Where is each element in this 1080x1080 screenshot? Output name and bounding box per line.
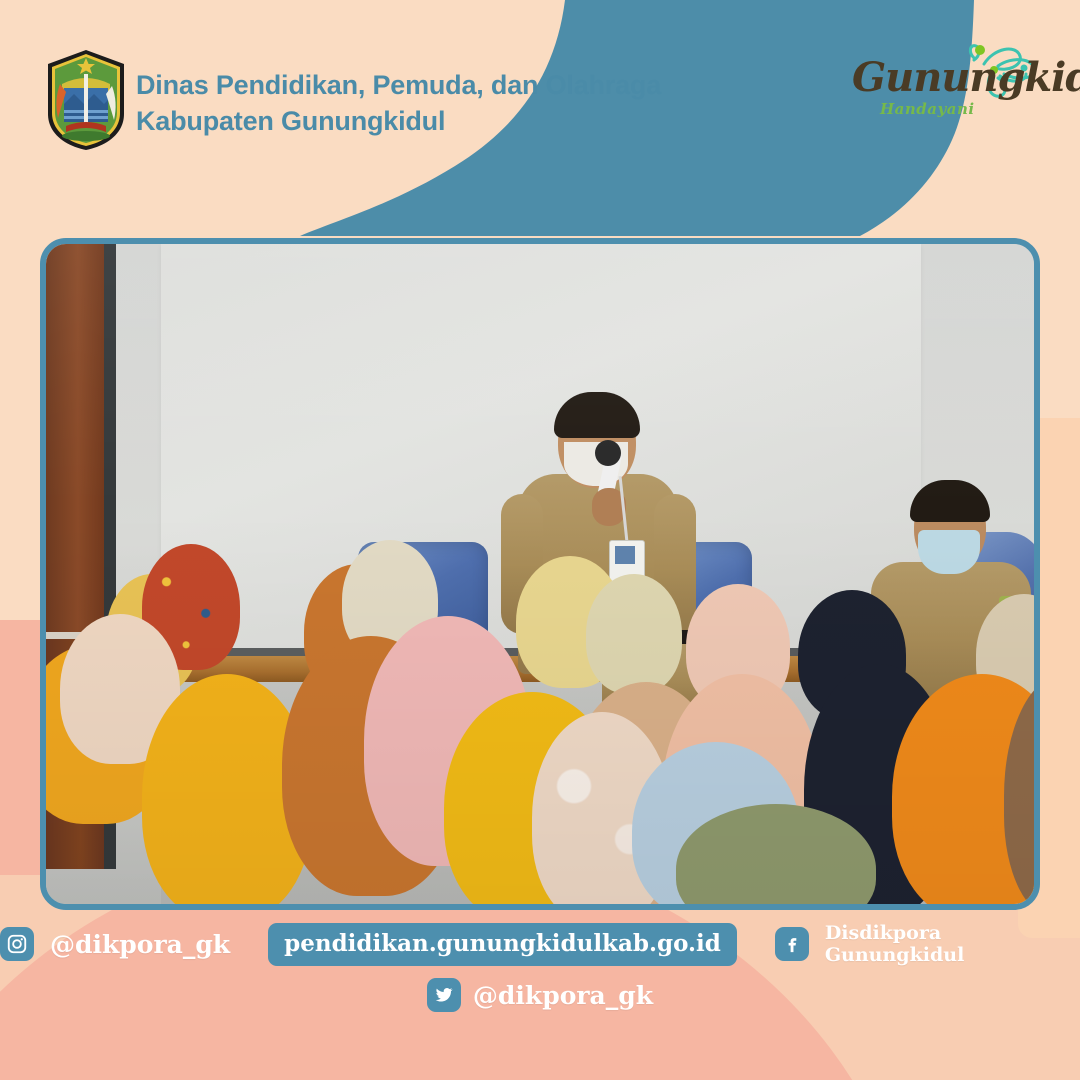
brand-wordmark: Gunungkidul [852,54,1080,101]
poster-canvas: Dinas Pendidikan, Pemuda, dan Olahraga K… [0,0,1080,1080]
twitter-handle[interactable]: @dikpora_gk [473,981,653,1010]
twitter-icon[interactable] [427,978,461,1012]
event-photo [46,244,1034,904]
door-frame-upper [46,244,104,644]
audience-head [586,574,682,694]
social-footer: @dikpora_gk pendidikan.gunungkidulkab.go… [0,910,1080,1080]
instagram-handle[interactable]: @dikpora_gk [50,930,230,959]
social-row-primary: @dikpora_gk pendidikan.gunungkidulkab.go… [0,922,1080,966]
website-url-badge[interactable]: pendidikan.gunungkidulkab.go.id [268,923,737,966]
gunungkidul-regency-coat-of-arms-icon [40,48,132,152]
brand-tagline: Handayani [880,100,975,118]
instagram-icon[interactable] [0,927,34,961]
gunungkidul-brand-logo: Gunungkidul Handayani [834,28,1064,128]
social-row-secondary: @dikpora_gk [0,978,1080,1012]
microphone-head [595,440,621,466]
facebook-icon[interactable] [775,927,809,961]
facebook-page-name[interactable]: Disdikpora Gunungkidul [825,922,1080,966]
id-card-photo [615,546,635,564]
officer-face-mask [918,530,980,574]
page-title: Dinas Pendidikan, Pemuda, dan Olahraga K… [136,68,661,139]
event-photo-card [40,238,1040,910]
